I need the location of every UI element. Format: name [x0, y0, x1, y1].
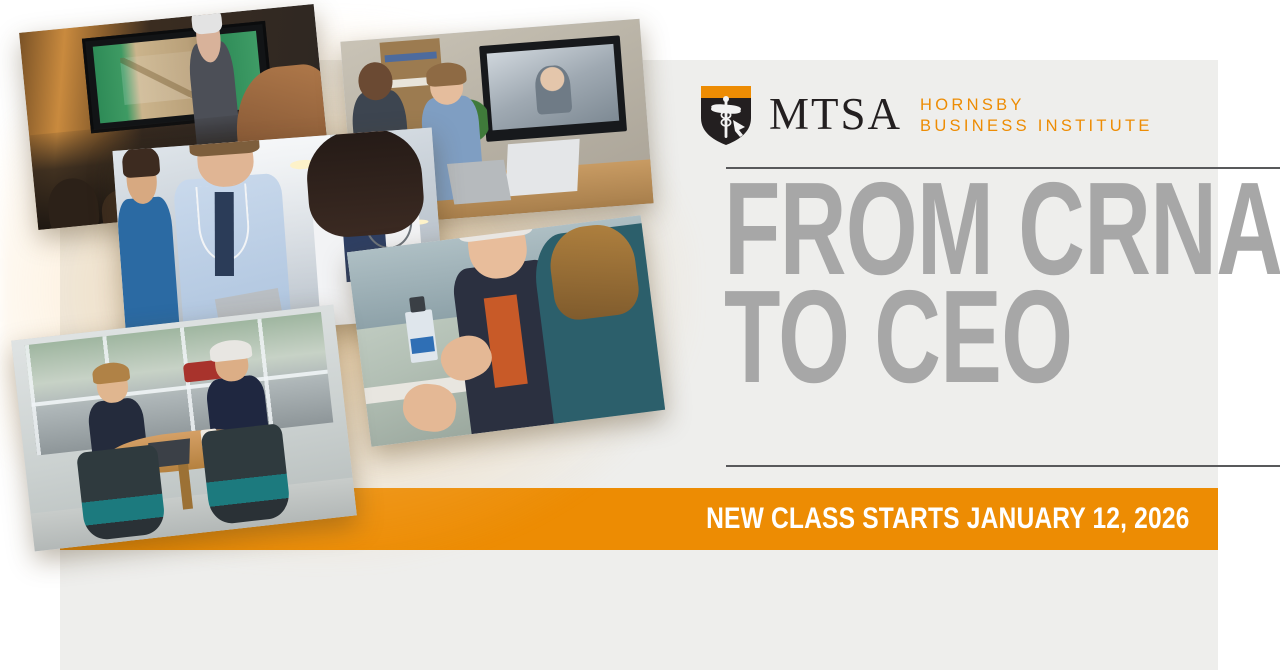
page-title: FROM CRNA TO CEO	[724, 172, 1046, 393]
photo-collage	[0, 0, 720, 580]
patient-consultation-photo	[347, 215, 665, 447]
mtsa-wordmark: MTSA	[769, 92, 902, 137]
announcement-banner-text: NEW CLASS STARTS JANUARY 12, 2026	[707, 499, 1190, 539]
mentor-meeting-table-photo	[11, 305, 357, 552]
mtsa-logo-lockup[interactable]: MTSA HORNSBY BUSINESS INSTITUTE	[699, 84, 1153, 146]
promo-banner-stage: MTSA HORNSBY BUSINESS INSTITUTE FROM CRN…	[0, 0, 1280, 670]
institute-subtitle-line2: BUSINESS INSTITUTE	[920, 116, 1153, 137]
institute-subtitle-line1: HORNSBY	[920, 96, 1025, 114]
headline-bottom-rule	[726, 465, 1280, 467]
institute-subtitle: HORNSBY BUSINESS INSTITUTE	[920, 95, 1153, 137]
